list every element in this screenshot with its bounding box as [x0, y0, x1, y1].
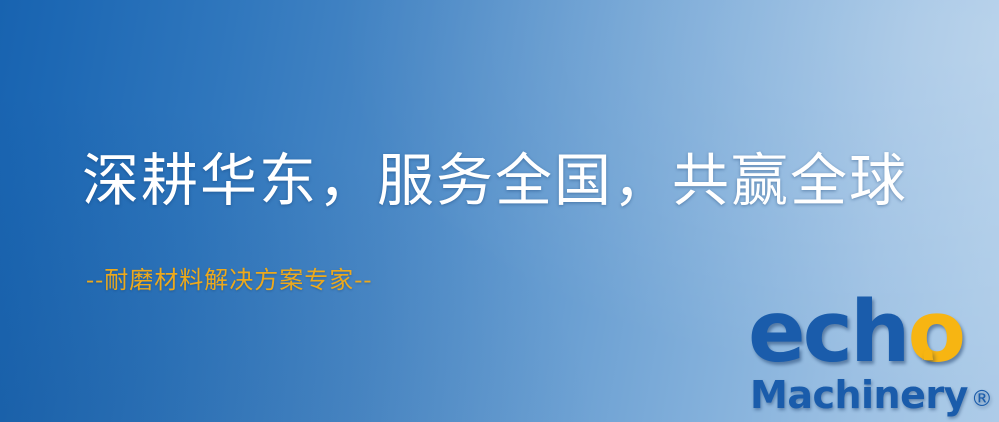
- registered-trademark-icon: ®: [971, 387, 993, 412]
- company-logo[interactable]: echo Machinery®: [746, 296, 994, 420]
- signal-waves-icon: [922, 288, 999, 360]
- hero-banner: 深耕华东，服务全国，共赢全球 --耐磨材料解决方案专家-- echo Machi…: [0, 0, 999, 422]
- banner-subtitle: --耐磨材料解决方案专家--: [86, 266, 372, 295]
- banner-headline: 深耕华东，服务全国，共赢全球: [82, 152, 908, 212]
- logo-tagline-text: Machinery: [750, 373, 968, 417]
- logo-wordmark-prefix: ech: [748, 283, 908, 382]
- logo-tagline: Machinery®: [750, 376, 992, 414]
